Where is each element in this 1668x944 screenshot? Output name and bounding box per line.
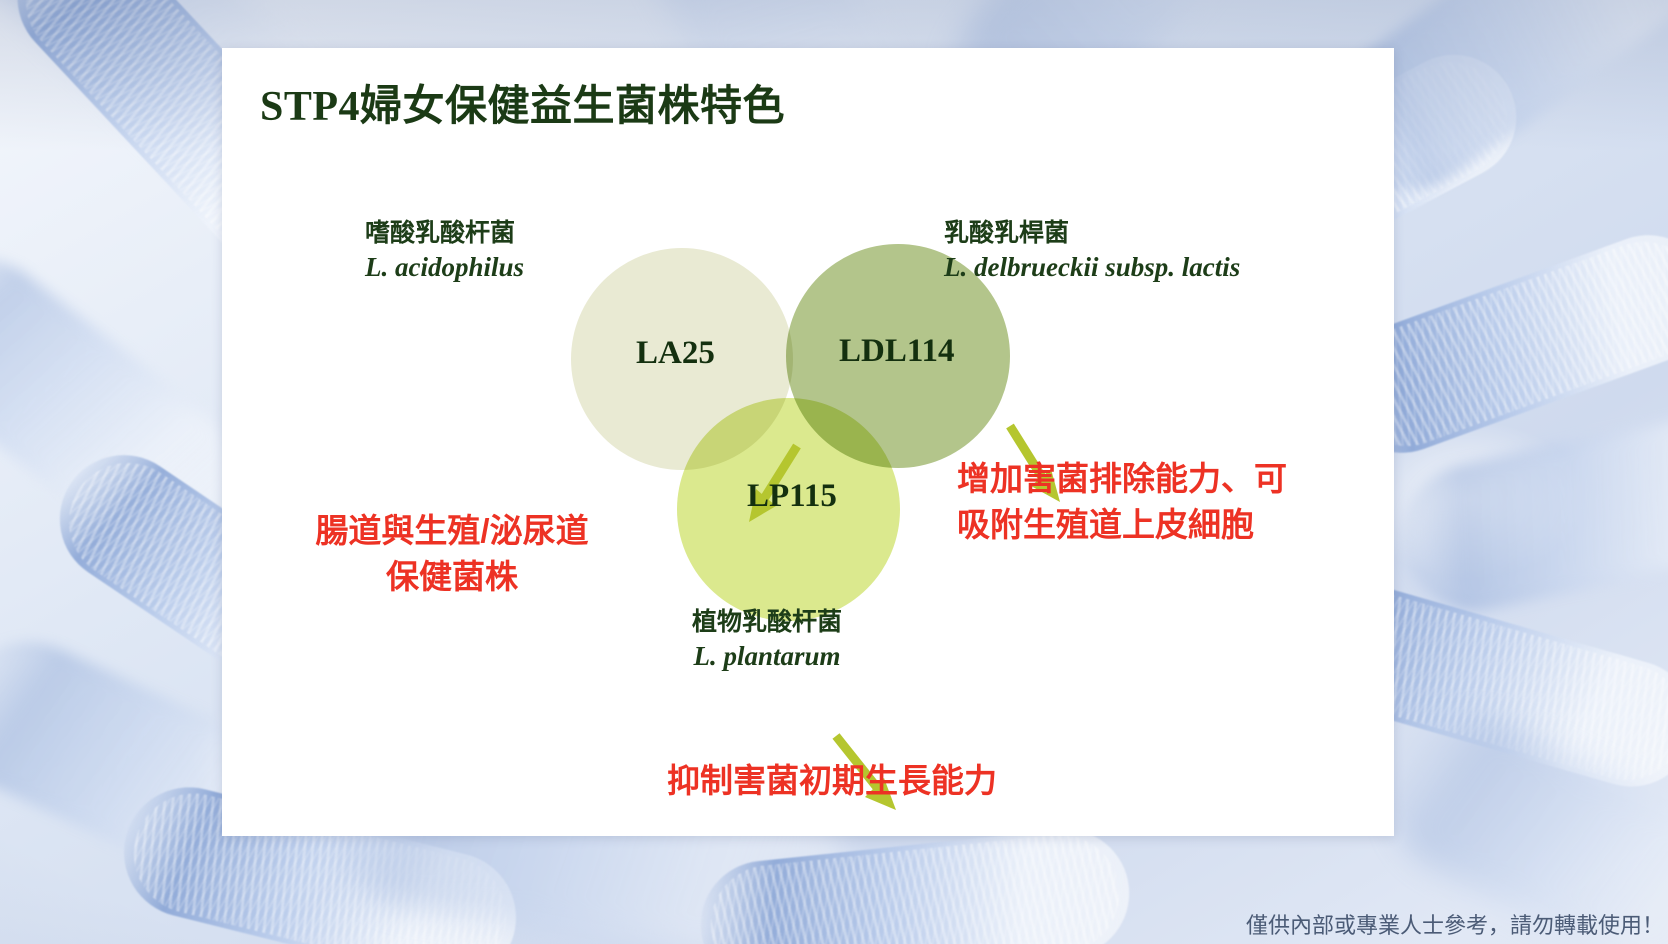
- venn-label-la25: LA25: [636, 335, 715, 372]
- species-chinese-name: 嗜酸乳酸杆菌: [365, 216, 524, 250]
- slide-root: STP4婦女保健益生菌株特色 LA25 LDL114 LP115 嗜酸乳酸杆菌 …: [0, 0, 1668, 944]
- species-scientific-name: L. acidophilus: [365, 250, 524, 284]
- benefit-text-left: 腸道與生殖/泌尿道 保健菌株: [252, 508, 652, 600]
- venn-label-ldl114: LDL114: [839, 333, 955, 370]
- species-caption-plantarum: 植物乳酸杆菌 L. plantarum: [692, 605, 842, 673]
- venn-label-lp115: LP115: [747, 478, 837, 515]
- species-caption-lactis: 乳酸乳桿菌 L. delbrueckii subsp. lactis: [944, 216, 1240, 284]
- content-card: STP4婦女保健益生菌株特色 LA25 LDL114 LP115 嗜酸乳酸杆菌 …: [222, 48, 1394, 836]
- benefit-text-bottom: 抑制害菌初期生長能力: [572, 758, 1092, 804]
- species-chinese-name: 乳酸乳桿菌: [944, 216, 1240, 250]
- footer-disclaimer: 僅供內部或專業人士參考，請勿轉載使用！: [1246, 908, 1664, 940]
- benefit-text-right: 增加害菌排除能力、可 吸附生殖道上皮細胞: [957, 456, 1387, 548]
- species-scientific-name: L. delbrueckii subsp. lactis: [944, 250, 1240, 284]
- species-caption-acidophilus: 嗜酸乳酸杆菌 L. acidophilus: [365, 216, 524, 284]
- species-chinese-name: 植物乳酸杆菌: [692, 605, 842, 639]
- species-scientific-name: L. plantarum: [692, 639, 842, 673]
- page-title: STP4婦女保健益生菌株特色: [260, 72, 785, 133]
